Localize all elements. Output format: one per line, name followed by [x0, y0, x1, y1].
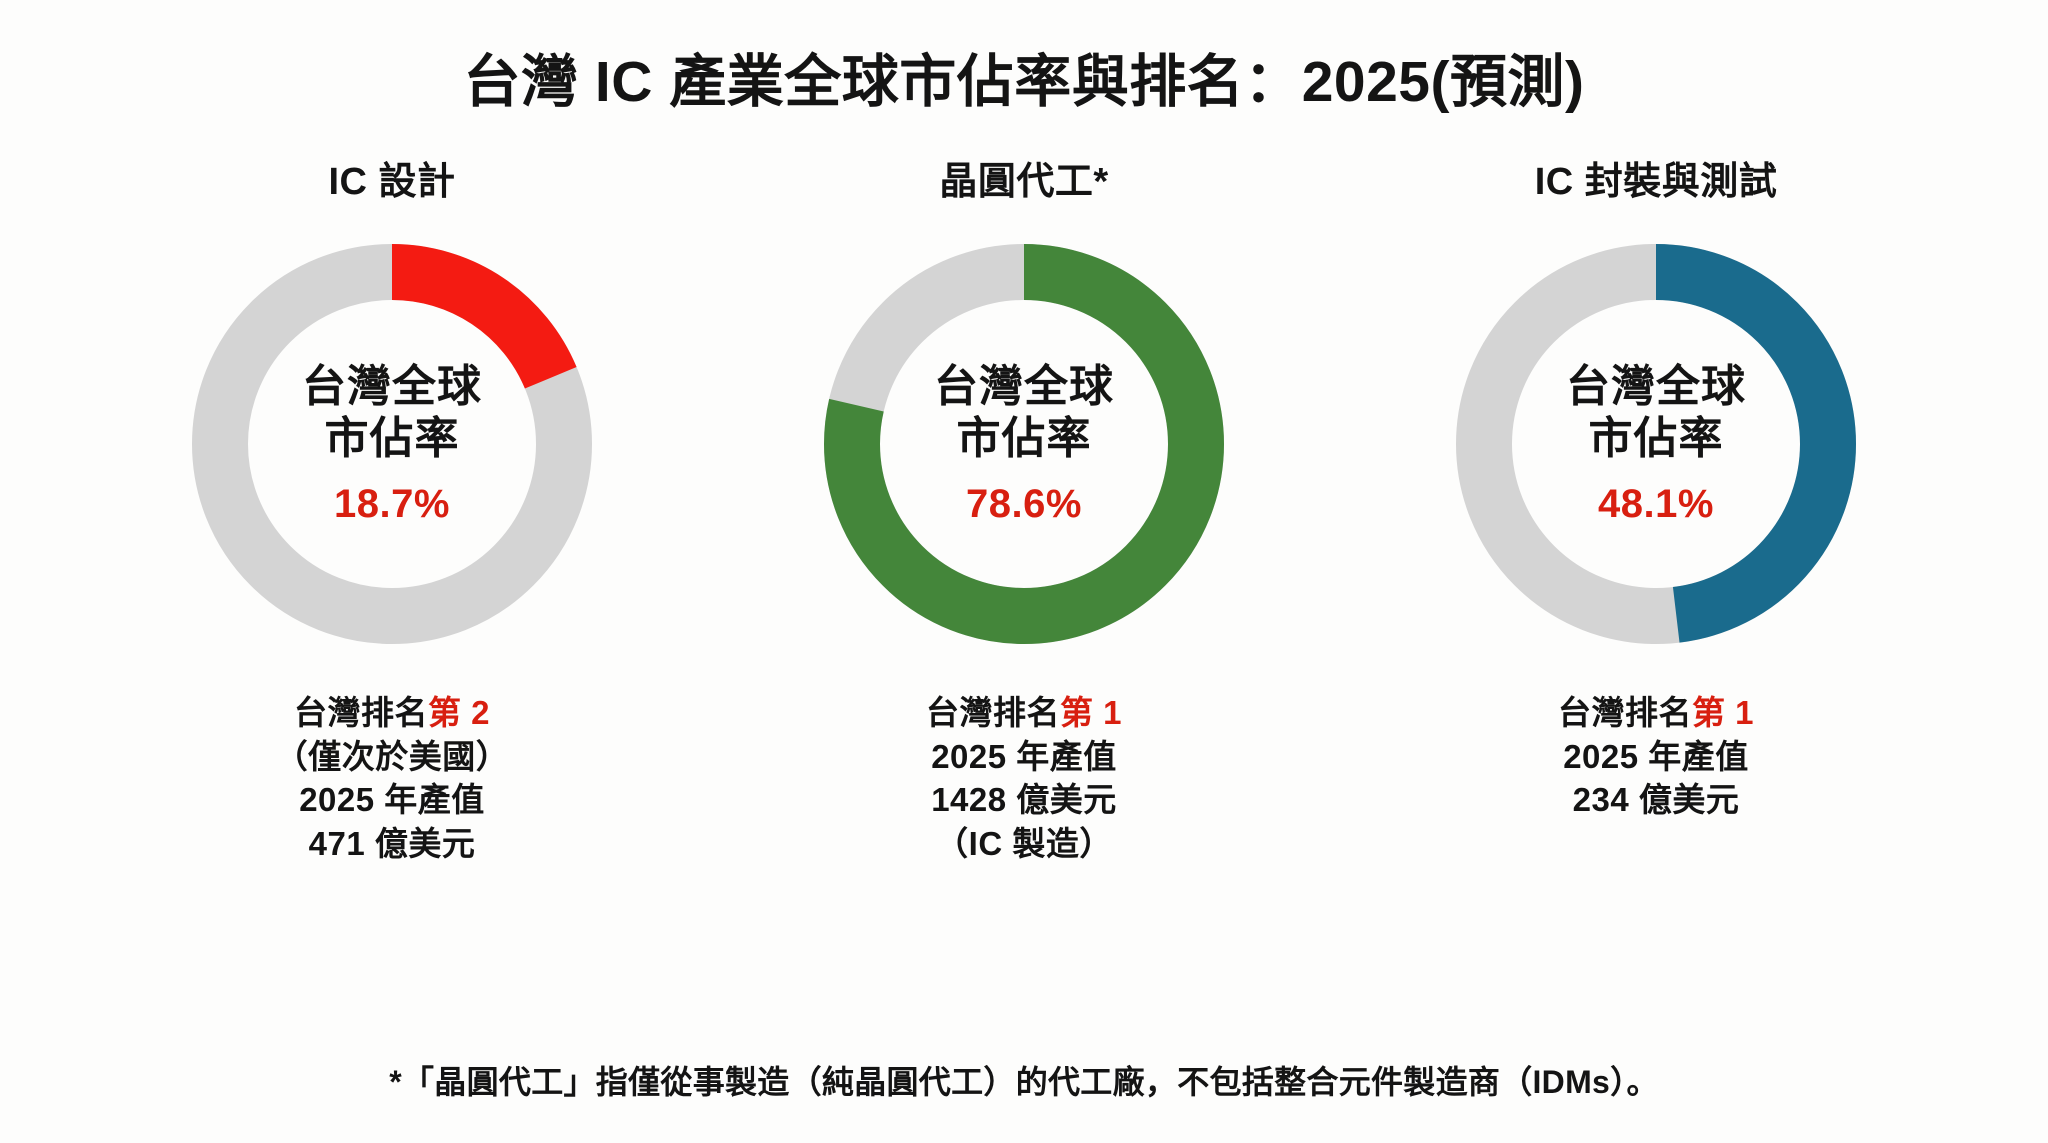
note-text: 台灣排名 [1558, 694, 1692, 731]
donut-svg-ic-design [167, 219, 617, 669]
note-line: 234 億美元 [1558, 778, 1754, 822]
segment-notes-ic-design: 台灣排名第 2 （僅次於美國） 2025 年產值 471 億美元 [275, 691, 510, 865]
note-line: 2025 年產值 [1558, 735, 1754, 779]
donut-columns: IC 設計 台灣全球 市佔率 18.7% 台灣排名第 2 （僅次於美國） 202… [0, 150, 2048, 865]
donut-chart-packaging-test: 台灣全球 市佔率 48.1% [1431, 219, 1881, 669]
note-line: 1428 億美元 [926, 778, 1122, 822]
donut-chart-foundry: 台灣全球 市佔率 78.6% [799, 219, 1249, 669]
rank-highlight: 第 2 [428, 694, 490, 731]
footnote-text: *「晶圓代工」指僅從事製造（純晶圓代工）的代工廠，不包括整合元件製造商（IDMs… [0, 1057, 2048, 1103]
note-line: 2025 年產值 [926, 735, 1122, 779]
donut-svg-foundry [799, 219, 1249, 669]
note-line: 台灣排名第 1 [1558, 691, 1754, 735]
note-text: 台灣排名 [294, 694, 428, 731]
infographic-page: 台灣 IC 產業全球市佔率與排名：2025(預測) IC 設計 台灣全球 市佔率… [0, 0, 2048, 1143]
page-title: 台灣 IC 產業全球市佔率與排名：2025(預測) [0, 36, 2048, 118]
segment-title-foundry: 晶圓代工* [939, 150, 1108, 205]
donut-chart-ic-design: 台灣全球 市佔率 18.7% [167, 219, 617, 669]
note-line: （僅次於美國） [275, 735, 510, 779]
segment-column-foundry: 晶圓代工* 台灣全球 市佔率 78.6% 台灣排名第 1 2025 年產值 14… [724, 150, 1324, 865]
segment-title-packaging-test: IC 封裝與測試 [1535, 150, 1778, 205]
rank-highlight: 第 1 [1692, 694, 1754, 731]
note-line: 471 億美元 [275, 822, 510, 866]
segment-column-packaging-test: IC 封裝與測試 台灣全球 市佔率 48.1% 台灣排名第 1 2025 年產值… [1356, 150, 1956, 865]
segment-column-ic-design: IC 設計 台灣全球 市佔率 18.7% 台灣排名第 2 （僅次於美國） 202… [92, 150, 692, 865]
note-line: 2025 年產值 [275, 778, 510, 822]
segment-title-ic-design: IC 設計 [328, 150, 455, 205]
note-line: 台灣排名第 1 [926, 691, 1122, 735]
rank-highlight: 第 1 [1060, 694, 1122, 731]
segment-notes-foundry: 台灣排名第 1 2025 年產值 1428 億美元 （IC 製造） [926, 691, 1122, 865]
segment-notes-packaging-test: 台灣排名第 1 2025 年產值 234 億美元 [1558, 691, 1754, 822]
note-line: 台灣排名第 2 [275, 691, 510, 735]
donut-svg-packaging-test [1431, 219, 1881, 669]
note-text: 台灣排名 [926, 694, 1060, 731]
note-line: （IC 製造） [926, 822, 1122, 866]
